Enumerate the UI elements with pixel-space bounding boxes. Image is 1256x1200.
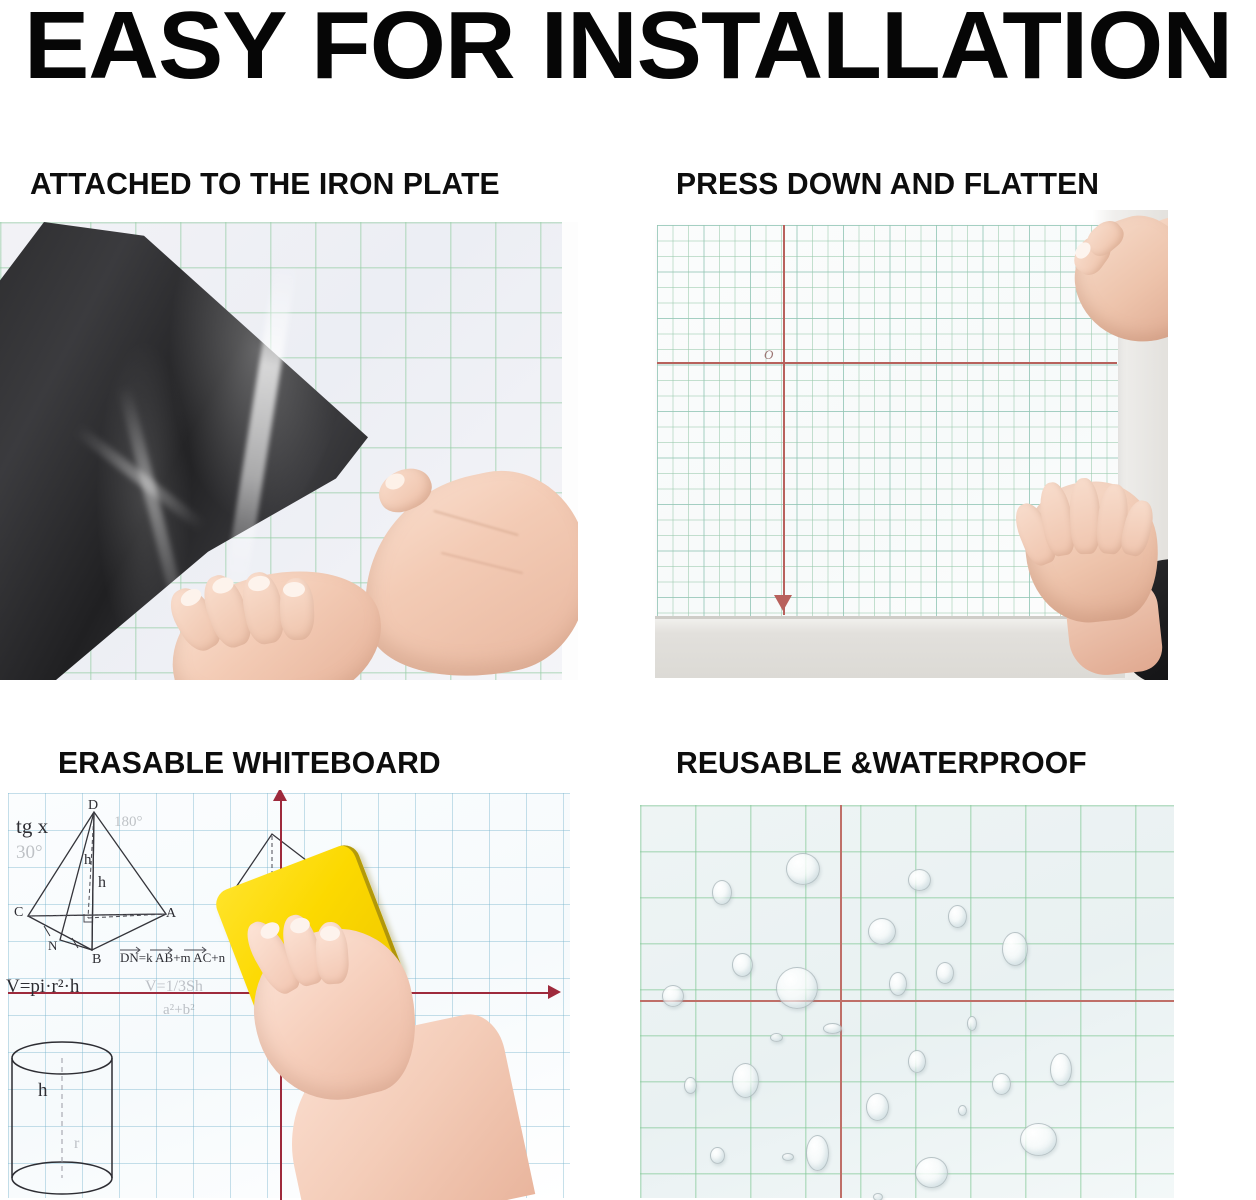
height-label-triangle: h (84, 852, 92, 869)
vertex-label-a: A (166, 906, 176, 922)
handwriting-pyramid-volume: V=1/3Sh (145, 978, 203, 996)
water-droplet (915, 1157, 948, 1188)
horizontal-axis-line (640, 1000, 1174, 1002)
vertical-axis-line (783, 225, 785, 615)
handwriting-30-degrees: 30° (16, 842, 43, 864)
water-droplet (823, 1023, 842, 1034)
water-droplet (732, 1063, 759, 1098)
water-droplet (806, 1135, 829, 1171)
vertex-label-n: N (48, 938, 57, 954)
panel-image-erasable-whiteboard: tg x 30° D h C A N B DN=k AB+m AC+n V=pi… (0, 790, 578, 1200)
water-droplet (1050, 1053, 1072, 1086)
water-droplet (992, 1073, 1011, 1095)
water-droplet (710, 1147, 725, 1164)
handwriting-pythagorean: a²+b² (163, 1002, 195, 1019)
radius-label-cylinder: r (74, 1135, 79, 1153)
handwriting-180-degrees: 180° (114, 814, 143, 831)
water-droplet (868, 918, 896, 945)
floor-edge-line (655, 616, 1125, 619)
vertex-label-c: C (14, 905, 23, 921)
water-droplet (958, 1105, 967, 1116)
height-label-cylinder: h (38, 1080, 48, 1102)
infographic-page: EASY FOR INSTALLATION ATTACHED TO THE IR… (0, 0, 1256, 1200)
water-droplet (889, 972, 907, 996)
down-arrow-icon (774, 595, 792, 611)
panel-image-press-down-and-flatten: O (628, 210, 1168, 680)
panel-heading-reusable-and-waterproof: REUSABLE &WATERPROOF (676, 745, 1087, 781)
panel-image-reusable-and-waterproof (628, 790, 1188, 1200)
water-droplet (936, 962, 954, 984)
water-droplet (866, 1093, 889, 1121)
origin-label: O (764, 347, 773, 363)
water-droplet (770, 1033, 783, 1042)
vertex-label-d: D (88, 798, 98, 814)
right-arrow-icon (548, 985, 561, 999)
water-droplet (1002, 932, 1028, 966)
water-droplet (967, 1016, 977, 1031)
water-droplet (948, 905, 967, 928)
horizontal-axis-line (657, 362, 1117, 364)
water-droplet (908, 869, 931, 891)
water-droplet (786, 853, 820, 885)
water-droplet (662, 985, 684, 1007)
water-droplet (776, 967, 818, 1009)
vertex-label-b: B (92, 952, 101, 968)
handwriting-cylinder-volume: V=pi·r²·h (6, 976, 79, 998)
water-droplet (1020, 1123, 1057, 1156)
water-droplet (908, 1050, 926, 1073)
floor-ledge (655, 616, 1125, 678)
water-droplet (873, 1193, 883, 1200)
water-droplet (732, 953, 753, 977)
height-label-pyramid: h (98, 874, 106, 892)
water-droplet (684, 1077, 697, 1094)
vertical-axis-line (840, 805, 842, 1198)
panel-image-attached-to-iron-plate (0, 222, 578, 680)
panel-heading-attached-to-iron-plate: ATTACHED TO THE IRON PLATE (30, 166, 500, 202)
water-droplet (712, 880, 732, 905)
water-droplet (782, 1153, 794, 1161)
panel-heading-erasable-whiteboard: ERASABLE WHITEBOARD (58, 745, 441, 781)
panel-heading-press-down-and-flatten: PRESS DOWN AND FLATTEN (676, 166, 1099, 202)
page-title: EASY FOR INSTALLATION (0, 0, 1256, 98)
handwriting-vector-equation: DN=k AB+m AC+n (120, 950, 225, 966)
handwriting-tg-x: tg x (16, 814, 48, 839)
up-arrow-icon (273, 790, 287, 801)
